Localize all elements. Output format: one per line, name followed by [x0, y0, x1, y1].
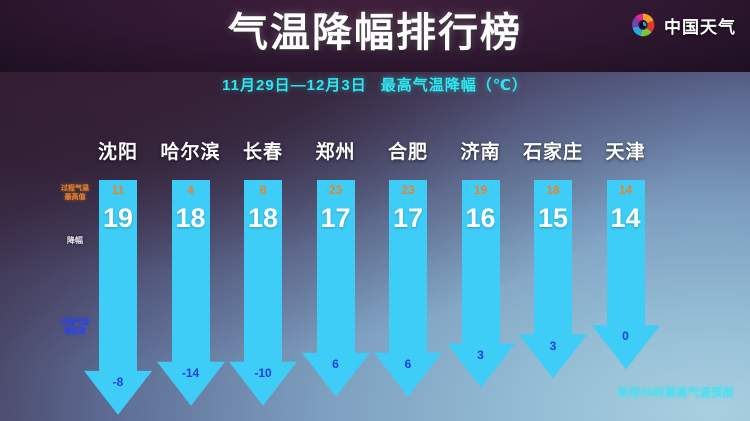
- value-low-2: -10: [223, 366, 303, 380]
- arrow-group: 1119-8418-14818-102317623176191631815314…: [0, 0, 750, 421]
- value-low-0: -8: [78, 375, 158, 389]
- value-low-6: 3: [513, 339, 593, 353]
- value-low-4: 6: [368, 357, 448, 371]
- value-low-5: 3: [441, 348, 521, 362]
- chart-canvas: 气温降幅排行榜 11月29日—12月3日最高气温降幅（℃） 中国天气 过程气温 …: [0, 0, 750, 421]
- value-high-6: 18: [513, 183, 593, 197]
- value-high-5: 19: [441, 183, 521, 197]
- value-high-4: 23: [368, 183, 448, 197]
- value-high-0: 11: [78, 183, 158, 197]
- value-low-1: -14: [151, 366, 231, 380]
- value-low-3: 6: [296, 357, 376, 371]
- value-high-2: 8: [223, 183, 303, 197]
- value-drop-7: 14: [581, 203, 671, 233]
- value-high-7: 14: [586, 183, 666, 197]
- value-high-1: 4: [151, 183, 231, 197]
- watermark-note: 采用08时最高气温预报: [617, 386, 734, 400]
- value-high-3: 23: [296, 183, 376, 197]
- value-low-7: 0: [586, 329, 666, 343]
